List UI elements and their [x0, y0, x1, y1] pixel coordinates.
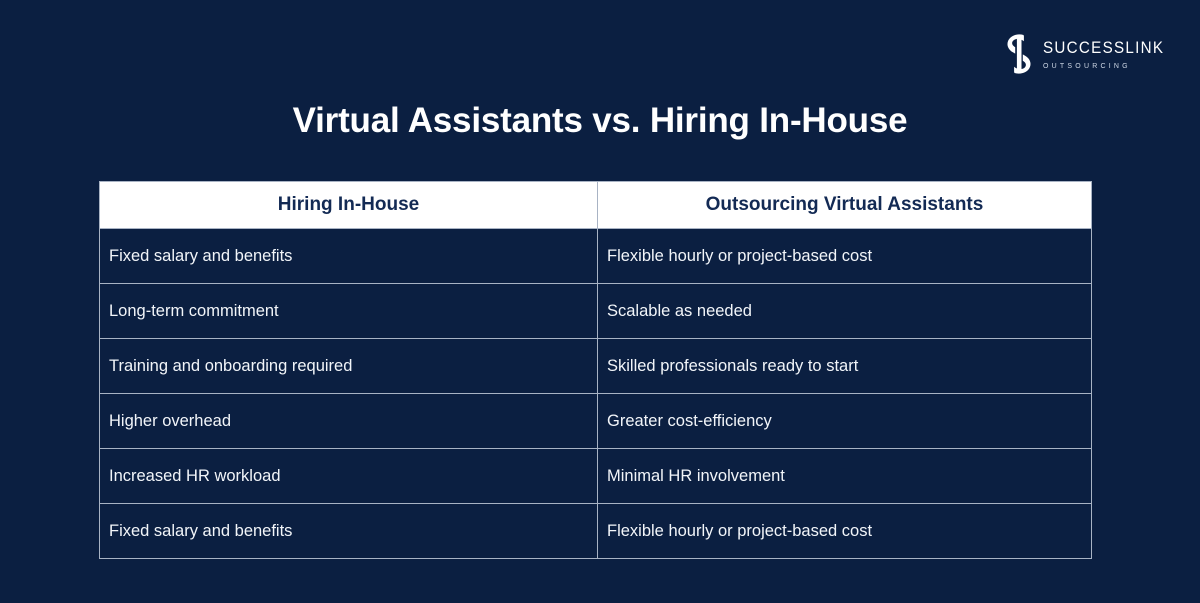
table-row: Higher overhead Greater cost-efficiency: [100, 394, 1092, 449]
table-row: Long-term commitment Scalable as needed: [100, 284, 1092, 339]
cell-outsourcing: Greater cost-efficiency: [598, 394, 1092, 449]
cell-in-house: Fixed salary and benefits: [100, 229, 598, 284]
cell-in-house: Long-term commitment: [100, 284, 598, 339]
cell-outsourcing: Flexible hourly or project-based cost: [598, 504, 1092, 559]
column-header-hiring-in-house: Hiring In-House: [100, 182, 598, 229]
brand-wordmark: SUCCESSLINK OUTSOURCING: [1043, 38, 1175, 69]
page-title: Virtual Assistants vs. Hiring In-House: [0, 100, 1200, 142]
table-body: Fixed salary and benefits Flexible hourl…: [100, 229, 1092, 559]
brand-tagline: OUTSOURCING: [1043, 62, 1164, 70]
table-row: Fixed salary and benefits Flexible hourl…: [100, 229, 1092, 284]
cell-in-house: Training and onboarding required: [100, 339, 598, 394]
cell-in-house: Fixed salary and benefits: [100, 504, 598, 559]
cell-outsourcing: Flexible hourly or project-based cost: [598, 229, 1092, 284]
table-header: Hiring In-House Outsourcing Virtual Assi…: [100, 182, 1092, 229]
cell-outsourcing: Minimal HR involvement: [598, 449, 1092, 504]
table-row: Increased HR workload Minimal HR involve…: [100, 449, 1092, 504]
brand-logo: SUCCESSLINK OUTSOURCING: [1004, 33, 1175, 75]
brand-name: SUCCESSLINK: [1043, 40, 1164, 57]
column-header-outsourcing-virtual-assistants: Outsourcing Virtual Assistants: [598, 182, 1092, 229]
successlink-s-monogram-icon: [1004, 33, 1034, 75]
cell-in-house: Higher overhead: [100, 394, 598, 449]
comparison-table: Hiring In-House Outsourcing Virtual Assi…: [99, 181, 1092, 559]
cell-outsourcing: Scalable as needed: [598, 284, 1092, 339]
header-row: Hiring In-House Outsourcing Virtual Assi…: [100, 182, 1092, 229]
cell-in-house: Increased HR workload: [100, 449, 598, 504]
table-row: Fixed salary and benefits Flexible hourl…: [100, 504, 1092, 559]
cell-outsourcing: Skilled professionals ready to start: [598, 339, 1092, 394]
table-row: Training and onboarding required Skilled…: [100, 339, 1092, 394]
